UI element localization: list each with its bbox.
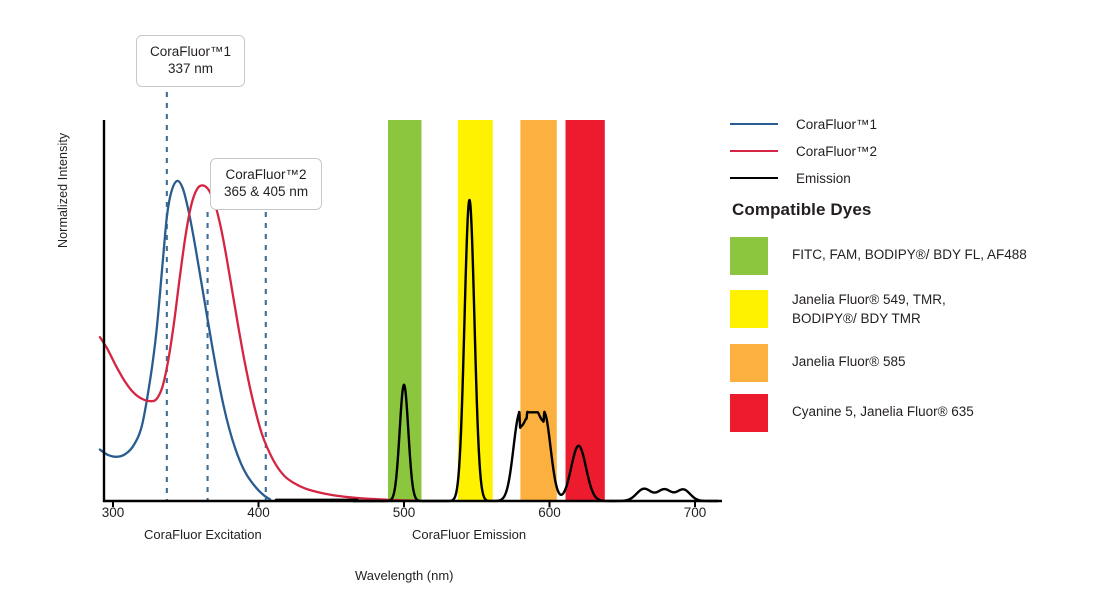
dye-legend-label-4: Cyanine 5, Janelia Fluor® 635 [792,394,974,422]
plot-area: Normalized Intensity Wavelength (nm) Cor… [0,0,730,612]
dye-band-4 [566,120,605,501]
dye-legend-label-2: Janelia Fluor® 549, TMR,BODIPY®/ BDY TMR [792,290,946,328]
dye-band-1 [388,120,421,501]
x-tick-label-600: 600 [520,505,580,520]
compatible-dyes-heading: Compatible Dyes [732,200,871,220]
legend-panel: CoraFluor™1CoraFluor™2Emission Compatibl… [730,0,1110,612]
callout-cf2-value: 365 & 405 nm [224,183,308,200]
dye-legend-row-4[interactable]: Cyanine 5, Janelia Fluor® 635 [730,394,974,432]
legend-series-row-3[interactable]: Emission [730,168,851,188]
dye-color-swatch-4 [730,394,768,432]
dye-label-line1-4: Cyanine 5, Janelia Fluor® 635 [792,403,974,422]
x-axis-title: Wavelength (nm) [355,568,454,583]
dye-color-swatch-2 [730,290,768,328]
spectral-overlap-figure: Normalized Intensity Wavelength (nm) Cor… [0,0,1110,612]
x-tick-label-400: 400 [229,505,289,520]
legend-series-label-2: CoraFluor™2 [796,144,877,159]
callout-corafluor-2: CoraFluor™2 365 & 405 nm [210,158,322,210]
callout-cf1-value: 337 nm [150,60,231,77]
callout-cf2-title: CoraFluor™2 [226,167,307,182]
legend-series-label-3: Emission [796,171,851,186]
dye-legend-row-2[interactable]: Janelia Fluor® 549, TMR,BODIPY®/ BDY TMR [730,290,946,328]
x-tick-label-700: 700 [665,505,725,520]
dye-label-line1-3: Janelia Fluor® 585 [792,353,906,372]
dye-legend-label-3: Janelia Fluor® 585 [792,344,906,372]
legend-series-row-1[interactable]: CoraFluor™1 [730,114,877,134]
x-tick-label-500: 500 [374,505,434,520]
callout-cf1-title: CoraFluor™1 [150,44,231,59]
curve-excitation-2 [100,185,419,500]
spectra-plot [0,0,730,612]
dye-label-line1-2: Janelia Fluor® 549, TMR, [792,291,946,310]
dye-color-swatch-3 [730,344,768,382]
legend-series-row-2[interactable]: CoraFluor™2 [730,141,877,161]
curve-excitation-1 [100,181,270,500]
legend-line-swatch-1 [730,123,778,125]
callout-corafluor-1: CoraFluor™1 337 nm [136,35,245,87]
dye-legend-label-1: FITC, FAM, BODIPY®/ BDY FL, AF488 [792,237,1027,265]
dye-label-line2-2: BODIPY®/ BDY TMR [792,310,946,329]
legend-line-swatch-2 [730,150,778,152]
dye-legend-row-3[interactable]: Janelia Fluor® 585 [730,344,906,382]
y-axis-title: Normalized Intensity [56,133,70,248]
excitation-region-label: CoraFluor Excitation [144,527,262,542]
emission-region-label: CoraFluor Emission [412,527,526,542]
dye-label-line1-1: FITC, FAM, BODIPY®/ BDY FL, AF488 [792,246,1027,265]
dye-legend-row-1[interactable]: FITC, FAM, BODIPY®/ BDY FL, AF488 [730,237,1027,275]
dye-color-swatch-1 [730,237,768,275]
legend-series-label-1: CoraFluor™1 [796,117,877,132]
x-tick-label-300: 300 [83,505,143,520]
legend-line-swatch-3 [730,177,778,179]
